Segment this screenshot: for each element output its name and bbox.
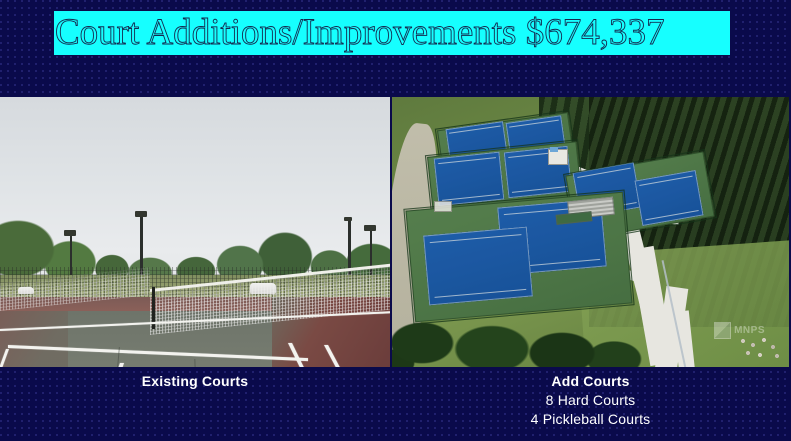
slide-canvas: Court Additions/Improvements $674,337 (0, 0, 791, 441)
court-apron-left (0, 311, 68, 367)
photo-watermark: MNPS (714, 322, 765, 339)
foreground-trees (392, 283, 652, 367)
caption-title-left: Existing Courts (0, 372, 390, 391)
caption-line-pickleball-courts: 4 Pickleball Courts (392, 410, 789, 429)
building-roof (550, 147, 558, 152)
caption-existing-courts: Existing Courts (0, 372, 390, 391)
light-pole-head (364, 225, 376, 231)
new-courts-aerial-photo: MNPS (392, 97, 789, 367)
watermark-logo-icon (714, 322, 731, 339)
page-title: Court Additions/Improvements $674,337 (55, 13, 664, 53)
existing-courts-photo (0, 97, 390, 367)
storage-shed (434, 201, 452, 212)
caption-title-right: Add Courts (392, 372, 789, 391)
title-banner: Court Additions/Improvements $674,337 (54, 11, 730, 55)
light-pole-head (135, 211, 147, 217)
caption-line-hard-courts: 8 Hard Courts (392, 391, 789, 410)
utility-pole-head (344, 217, 352, 221)
light-pole-head (64, 230, 76, 236)
caption-add-courts: Add Courts 8 Hard Courts 4 Pickleball Co… (392, 372, 789, 429)
watermark-text: MNPS (734, 325, 765, 336)
